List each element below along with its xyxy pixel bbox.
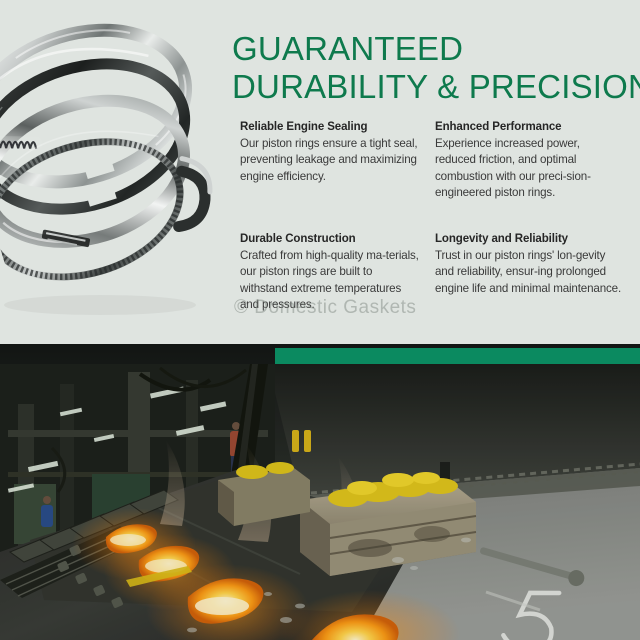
page-title: GUARANTEED DURABILITY & PRECISION — [232, 30, 632, 106]
headline-line-1: GUARANTEED — [232, 30, 463, 67]
headline-line-2: DURABILITY & PRECISION — [232, 68, 632, 106]
feature-body: Our piston rings ensure a tight seal, pr… — [240, 136, 421, 185]
feature-card-enhanced-performance: Enhanced Performance Experience increase… — [435, 120, 630, 201]
foundry-photo — [0, 344, 640, 640]
feature-body: Crafted from high-quality ma-terials, ou… — [240, 248, 421, 313]
piston-rings-image — [0, 5, 232, 335]
feature-body: Experience increased power, reduced fric… — [435, 136, 622, 201]
top-content-panel: GUARANTEED DURABILITY & PRECISION Reliab… — [0, 0, 640, 345]
feature-row-bottom: Durable Construction Crafted from high-q… — [240, 232, 630, 313]
feature-card-durable-construction: Durable Construction Crafted from high-q… — [240, 232, 435, 313]
feature-card-longevity-and-reliability: Longevity and Reliability Trust in our p… — [435, 232, 630, 313]
feature-title: Reliable Engine Sealing — [240, 120, 421, 135]
feature-row-top: Reliable Engine Sealing Our piston rings… — [240, 120, 630, 201]
accent-bar — [275, 348, 640, 364]
feature-title: Longevity and Reliability — [435, 232, 622, 247]
feature-grid: Reliable Engine Sealing Our piston rings… — [240, 120, 630, 313]
feature-body: Trust in our piston rings' lon-gevity an… — [435, 248, 622, 297]
feature-title: Enhanced Performance — [435, 120, 622, 135]
feature-title: Durable Construction — [240, 232, 421, 247]
feature-card-reliable-engine-sealing: Reliable Engine Sealing Our piston rings… — [240, 120, 435, 201]
feature-row-spacer — [240, 201, 630, 232]
poster-canvas: GUARANTEED DURABILITY & PRECISION Reliab… — [0, 0, 640, 640]
